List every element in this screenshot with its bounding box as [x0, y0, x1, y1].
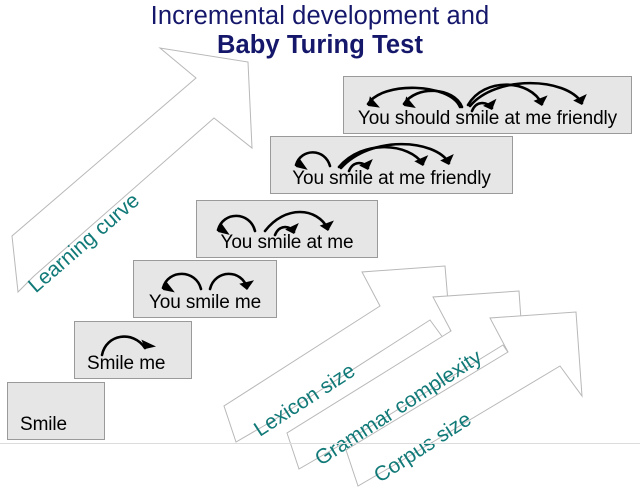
title-line-1: Incremental development and	[0, 2, 640, 31]
sentence-text-1: Smile	[8, 414, 104, 436]
sentence-text-5: You smile at me friendly	[271, 168, 512, 190]
page-title: Incremental development and Baby Turing …	[0, 2, 640, 59]
bottom-divider	[0, 443, 640, 444]
sentence-text-4: You smile at me	[197, 232, 377, 254]
arrow-corpus-size: Corpus size	[352, 296, 622, 496]
slide-canvas: Incremental development and Baby Turing …	[0, 0, 640, 450]
sentence-box-smile-me: Smile me	[74, 321, 192, 379]
sentence-box-you-smile-me: You smile me	[133, 260, 277, 318]
sentence-text-2: Smile me	[75, 353, 191, 375]
sentence-text-3: You smile me	[134, 292, 276, 314]
sentence-box-smile: Smile	[7, 382, 105, 440]
sentence-box-you-smile-at-me-friendly: You smile at me friendly	[270, 136, 513, 194]
sentence-text-6: You should smile at me friendly	[344, 108, 631, 130]
sentence-box-you-smile-at-me: You smile at me	[196, 200, 378, 258]
sentence-box-you-should-smile-at-me-friendly: You should smile at me friendly	[343, 76, 632, 134]
